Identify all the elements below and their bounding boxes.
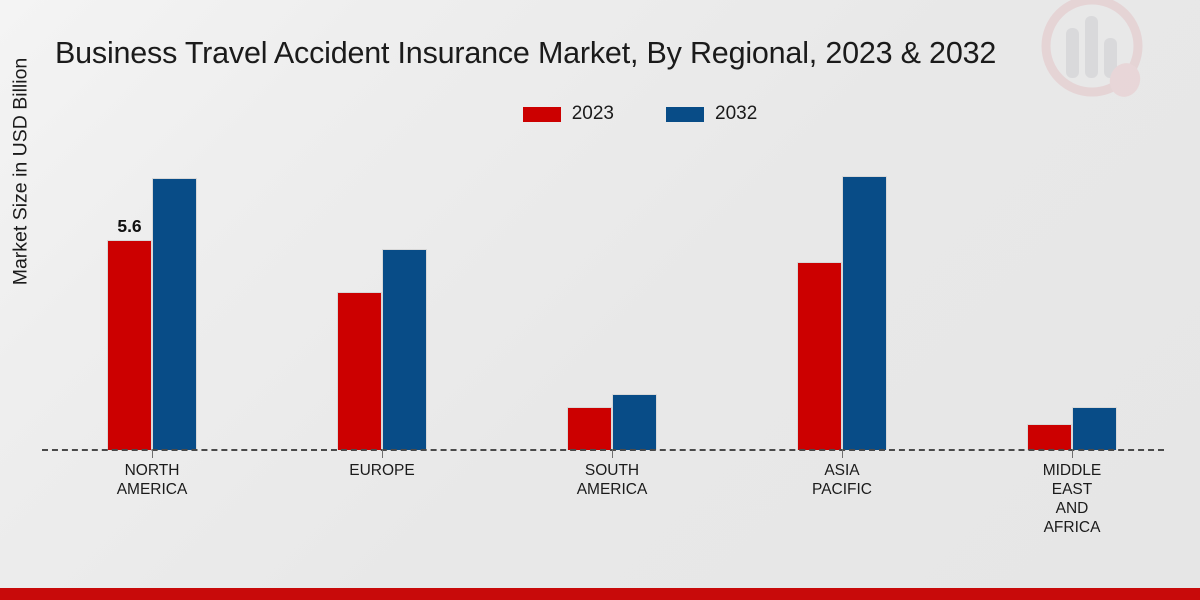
bar-group — [982, 150, 1162, 450]
x-axis-label-europe: EUROPE — [282, 461, 482, 480]
y-axis-title: Market Size in USD Billion — [10, 12, 33, 332]
plot-area: 5.6 — [42, 150, 1162, 450]
x-axis-tick — [382, 449, 383, 458]
bar-group — [292, 150, 472, 450]
x-axis-tick — [842, 449, 843, 458]
legend-swatch-2032 — [666, 107, 704, 122]
x-axis-label-south-america: SOUTHAMERICA — [512, 461, 712, 499]
bar-2023-south-america[interactable] — [567, 407, 612, 450]
bar-group: 5.6 — [62, 150, 242, 450]
x-axis-label-middle-east-and-africa: MIDDLEEASTANDAFRICA — [972, 461, 1172, 537]
x-axis-tick — [152, 449, 153, 458]
bar-2023-middle-east-and-africa[interactable] — [1027, 424, 1072, 450]
bar-2032-middle-east-and-africa[interactable] — [1072, 407, 1117, 450]
bar-2032-asia-pacific[interactable] — [842, 176, 887, 450]
legend-item-2023[interactable]: 2023 — [523, 103, 614, 125]
legend-label-2023: 2023 — [572, 103, 614, 125]
bar-2023-asia-pacific[interactable] — [797, 262, 842, 450]
bar-group — [522, 150, 702, 450]
bar-group — [752, 150, 932, 450]
x-axis-baseline — [42, 449, 1164, 451]
legend-label-2032: 2032 — [715, 103, 757, 125]
bar-value-label: 5.6 — [117, 216, 141, 237]
x-axis-tick — [1072, 449, 1073, 458]
chart-title: Business Travel Accident Insurance Marke… — [55, 36, 1155, 71]
x-axis-tick — [612, 449, 613, 458]
bar-2023-europe[interactable] — [337, 292, 382, 450]
legend-item-2032[interactable]: 2032 — [666, 103, 757, 125]
chart-legend: 2023 2032 — [0, 103, 1200, 125]
bar-2032-south-america[interactable] — [612, 394, 657, 450]
bar-2023-north-america[interactable]: 5.6 — [107, 240, 152, 450]
x-axis-label-north-america: NORTHAMERICA — [52, 461, 252, 499]
x-axis-label-asia-pacific: ASIAPACIFIC — [742, 461, 942, 499]
chart-canvas: Business Travel Accident Insurance Marke… — [0, 0, 1200, 600]
legend-swatch-2023 — [523, 107, 561, 122]
footer-band — [0, 588, 1200, 600]
bar-2032-europe[interactable] — [382, 249, 427, 450]
bar-2032-north-america[interactable] — [152, 178, 197, 450]
